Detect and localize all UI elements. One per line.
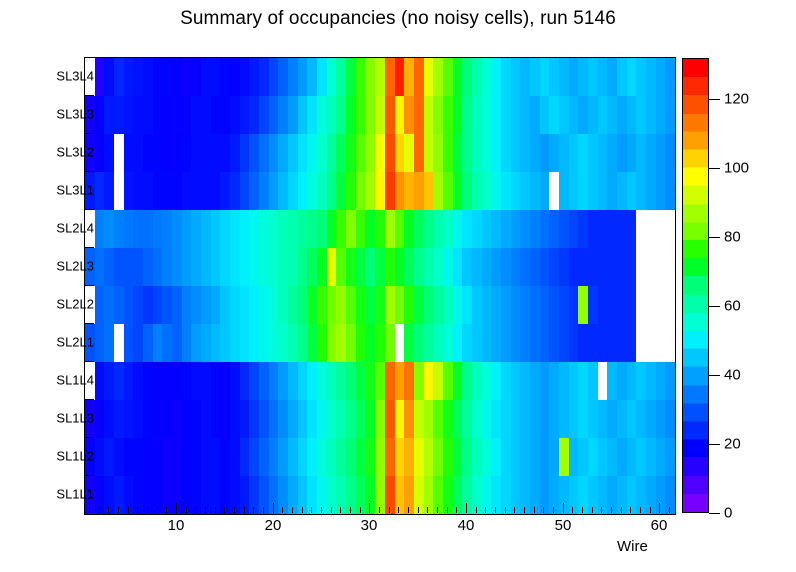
y-axis-tick [84, 437, 94, 438]
y-axis-label-sl2l2: SL2L2 [56, 297, 94, 312]
x-axis-minor-tick [157, 507, 158, 513]
x-axis-major-tick [466, 503, 467, 513]
y-axis-tick [84, 323, 94, 324]
root-canvas: Summary of occupancies (no noisy cells),… [0, 0, 796, 572]
heatmap-plot-frame [84, 57, 676, 515]
y-axis-label-sl1l1: SL1L1 [56, 487, 94, 502]
x-axis-minor-tick [572, 507, 573, 513]
color-scale-tick [709, 237, 720, 238]
y-axis-tick [84, 475, 94, 476]
x-axis-minor-tick [147, 507, 148, 513]
x-axis-minor-tick [253, 507, 254, 513]
color-scale-tick-label: 100 [724, 160, 749, 177]
x-axis-minor-tick [495, 507, 496, 513]
x-axis-minor-tick [592, 507, 593, 513]
x-axis-minor-tick [485, 507, 486, 513]
x-axis-major-tick [659, 503, 660, 513]
y-axis-label-sl3l4: SL3L4 [56, 69, 94, 84]
color-scale-tick [709, 375, 720, 376]
heatmap-cells [85, 58, 675, 514]
y-axis-label-sl1l3: SL1L3 [56, 411, 94, 426]
x-axis-minor-tick [195, 507, 196, 513]
y-axis-tick [84, 95, 94, 96]
y-axis-tick [84, 399, 94, 400]
x-axis-minor-tick [543, 507, 544, 513]
color-scale-tick-label: 60 [724, 298, 741, 315]
x-axis-minor-tick [553, 507, 554, 513]
x-axis-minor-tick [166, 507, 167, 513]
x-axis-major-tick [563, 503, 564, 513]
color-scale-bar [682, 58, 709, 513]
x-axis-minor-tick [292, 507, 293, 513]
x-axis-tick-label: 30 [361, 517, 378, 534]
x-axis-minor-tick [514, 507, 515, 513]
x-axis-major-tick [369, 503, 370, 513]
x-axis-minor-tick [601, 507, 602, 513]
x-axis-minor-tick [640, 507, 641, 513]
page-title: Summary of occupancies (no noisy cells),… [0, 8, 796, 30]
color-scale-tick [709, 168, 720, 169]
color-scale-tick [709, 444, 720, 445]
x-axis-minor-tick [505, 507, 506, 513]
x-axis-minor-tick [398, 507, 399, 513]
x-axis-minor-tick [340, 507, 341, 513]
x-axis-minor-tick [244, 507, 245, 513]
x-axis-minor-tick [89, 507, 90, 513]
heatmap-surface [85, 58, 675, 514]
x-axis-minor-tick [302, 507, 303, 513]
x-axis-minor-tick [321, 507, 322, 513]
x-axis-tick-label: 20 [265, 517, 282, 534]
y-axis-label-sl2l3: SL2L3 [56, 259, 94, 274]
x-axis-minor-tick [408, 507, 409, 513]
x-axis-tick-label: 60 [651, 517, 668, 534]
x-axis-major-tick [176, 503, 177, 513]
x-axis-minor-tick [282, 507, 283, 513]
x-axis-minor-tick [379, 507, 380, 513]
x-axis-minor-tick [611, 507, 612, 513]
x-axis-minor-tick [224, 507, 225, 513]
x-axis-minor-tick [186, 507, 187, 513]
x-axis-minor-tick [534, 507, 535, 513]
x-axis-major-tick [273, 503, 274, 513]
y-axis-tick [84, 171, 94, 172]
x-axis-minor-tick [621, 507, 622, 513]
x-axis-minor-tick [128, 507, 129, 513]
y-axis-label-sl1l4: SL1L4 [56, 373, 94, 388]
y-axis-tick [84, 285, 94, 286]
x-axis-minor-tick [427, 507, 428, 513]
y-axis-tick [84, 361, 94, 362]
color-scale-tick-label: 0 [724, 505, 732, 522]
y-axis-tick [84, 247, 94, 248]
y-axis-label-sl3l3: SL3L3 [56, 107, 94, 122]
color-scale-tick-label: 120 [724, 91, 749, 108]
x-axis-minor-tick [99, 507, 100, 513]
x-axis-minor-tick [669, 507, 670, 513]
x-axis-minor-tick [630, 507, 631, 513]
x-axis-minor-tick [350, 507, 351, 513]
x-axis-minor-tick [437, 507, 438, 513]
x-axis-minor-tick [137, 507, 138, 513]
x-axis-minor-tick [234, 507, 235, 513]
x-axis-minor-tick [118, 507, 119, 513]
color-scale-tick [709, 306, 720, 307]
x-axis-minor-tick [360, 507, 361, 513]
x-axis-tick-label: 50 [555, 517, 572, 534]
y-axis-label-sl2l1: SL2L1 [56, 335, 94, 350]
color-scale-tick [709, 513, 720, 514]
y-axis-label-sl2l4: SL2L4 [56, 221, 94, 236]
x-axis-minor-tick [205, 507, 206, 513]
x-axis-minor-tick [476, 507, 477, 513]
x-axis-minor-tick [263, 507, 264, 513]
y-axis-tick [84, 209, 94, 210]
x-axis-minor-tick [524, 507, 525, 513]
x-axis-tick-label: 10 [168, 517, 185, 534]
x-axis-minor-tick [582, 507, 583, 513]
x-axis-minor-tick [650, 507, 651, 513]
x-axis-minor-tick [215, 507, 216, 513]
x-axis-minor-tick [108, 507, 109, 513]
y-axis-label-sl3l1: SL3L1 [56, 183, 94, 198]
y-axis-label-sl1l2: SL1L2 [56, 449, 94, 464]
x-axis-minor-tick [447, 507, 448, 513]
color-scale-tick-label: 20 [724, 436, 741, 453]
x-axis-tick-label: 40 [458, 517, 475, 534]
x-axis-minor-tick [331, 507, 332, 513]
color-scale-tick-label: 40 [724, 367, 741, 384]
x-axis-minor-tick [456, 507, 457, 513]
color-scale-tick-label: 80 [724, 229, 741, 246]
x-axis-title: Wire [617, 538, 648, 555]
color-scale-gradient [683, 59, 708, 512]
x-axis-minor-tick [311, 507, 312, 513]
x-axis-minor-tick [418, 507, 419, 513]
color-scale-tick [709, 99, 720, 100]
y-axis-label-sl3l2: SL3L2 [56, 145, 94, 160]
x-axis-minor-tick [389, 507, 390, 513]
y-axis-tick [84, 133, 94, 134]
